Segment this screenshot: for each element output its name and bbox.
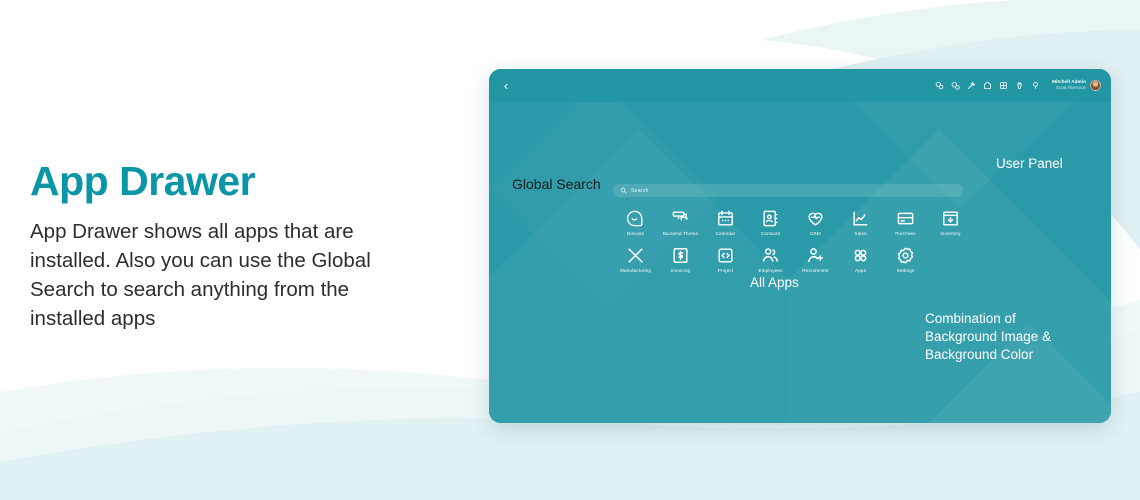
- annotation-label: Global Search: [512, 176, 601, 192]
- app-backend-theme[interactable]: Backend Theme: [658, 209, 703, 236]
- apps-dots-icon: [851, 246, 870, 265]
- messages-icon[interactable]: [935, 81, 944, 90]
- invoicing-dollar-icon: [671, 246, 690, 265]
- user-greeting: Good Afternoon: [1056, 86, 1086, 90]
- app-grid: Discuss Backend Theme: [613, 209, 973, 273]
- app-inventory[interactable]: Inventory: [928, 209, 973, 236]
- sales-chart-icon: [851, 209, 870, 228]
- app-discuss[interactable]: Discuss: [613, 209, 658, 236]
- page-description: App Drawer shows all apps that are insta…: [30, 217, 385, 333]
- app-drawer-panel: ‹: [489, 69, 1111, 423]
- manufacturing-tools-icon: [626, 246, 645, 265]
- recruitment-person-plus-icon: [806, 246, 825, 265]
- app-label: Recruitment: [802, 268, 828, 273]
- app-project[interactable]: Project: [703, 246, 748, 273]
- contacts-book-icon: [761, 209, 780, 228]
- user-panel[interactable]: Mitchell Admin Good Afternoon: [1052, 80, 1101, 91]
- user-name: Mitchell Admin: [1052, 80, 1086, 85]
- app-label: Sales: [854, 231, 866, 236]
- annotation-background: Combination of Background Image & Backgr…: [925, 310, 1110, 364]
- avatar[interactable]: [1090, 80, 1101, 91]
- annotation-user-panel: User Panel: [996, 155, 1063, 173]
- inventory-box-icon: [941, 209, 960, 228]
- app-row-2: Manufacturing Invoicing: [613, 246, 973, 273]
- annotation-label: Combination of Background Image & Backgr…: [925, 311, 1051, 362]
- annotation-label: All Apps: [750, 275, 799, 290]
- annotation-label: User Panel: [996, 156, 1063, 171]
- purchase-card-icon: [896, 209, 915, 228]
- app-label: Inventory: [940, 231, 960, 236]
- app-invoicing[interactable]: Invoicing: [658, 246, 703, 273]
- slide-canvas: App Drawer App Drawer shows all apps tha…: [0, 0, 1140, 500]
- search-icon: [620, 187, 627, 194]
- app-label: Manufacturing: [620, 268, 651, 273]
- project-code-icon: [716, 246, 735, 265]
- app-label: Purchase: [895, 231, 916, 236]
- annotation-all-apps: All Apps: [750, 274, 799, 292]
- panel-topbar: ‹: [489, 69, 1111, 102]
- app-label: Backend Theme: [663, 231, 698, 236]
- app-label: Contacts: [761, 231, 780, 236]
- app-label: Settings: [897, 268, 915, 273]
- crm-heart-icon: [806, 209, 825, 228]
- app-crm[interactable]: CRM: [793, 209, 838, 236]
- user-text: Mitchell Admin Good Afternoon: [1052, 80, 1086, 90]
- app-label: CRM: [810, 231, 821, 236]
- app-apps[interactable]: Apps: [838, 246, 883, 273]
- app-calendar[interactable]: Calendar: [703, 209, 748, 236]
- app-label: Employees: [758, 268, 782, 273]
- app-label: Discuss: [627, 231, 644, 236]
- discuss-icon: [626, 209, 645, 228]
- app-manufacturing[interactable]: Manufacturing: [613, 246, 658, 273]
- discuss-icon[interactable]: [951, 81, 960, 90]
- app-row-1: Discuss Backend Theme: [613, 209, 973, 236]
- bug-icon[interactable]: [1015, 81, 1024, 90]
- app-label: Project: [718, 268, 733, 273]
- app-label: Invoicing: [671, 268, 690, 273]
- grid-icon[interactable]: [999, 81, 1008, 90]
- back-chevron-icon[interactable]: ‹: [499, 77, 513, 95]
- paint-roller-icon: [671, 209, 690, 228]
- app-sales[interactable]: Sales: [838, 209, 883, 236]
- employees-icon: [761, 246, 780, 265]
- app-employees[interactable]: Employees: [748, 246, 793, 273]
- search-input[interactable]: Search: [613, 184, 963, 197]
- bulb-icon[interactable]: [1031, 81, 1040, 90]
- app-recruitment[interactable]: Recruitment: [793, 246, 838, 273]
- app-label: Calendar: [716, 231, 736, 236]
- marketing-copy: App Drawer App Drawer shows all apps tha…: [30, 160, 450, 333]
- annotation-global-search: Global Search: [512, 176, 601, 194]
- app-label: Apps: [855, 268, 866, 273]
- app-purchase[interactable]: Purchase: [883, 209, 928, 236]
- search-placeholder: Search: [631, 188, 649, 194]
- activity-icon[interactable]: [967, 81, 976, 90]
- shop-icon[interactable]: [983, 81, 992, 90]
- app-contacts[interactable]: Contacts: [748, 209, 793, 236]
- app-settings[interactable]: Settings: [883, 246, 928, 273]
- systray: Mitchell Admin Good Afternoon: [935, 80, 1101, 91]
- settings-gear-icon: [896, 246, 915, 265]
- calendar-icon: [716, 209, 735, 228]
- page-title: App Drawer: [30, 160, 450, 203]
